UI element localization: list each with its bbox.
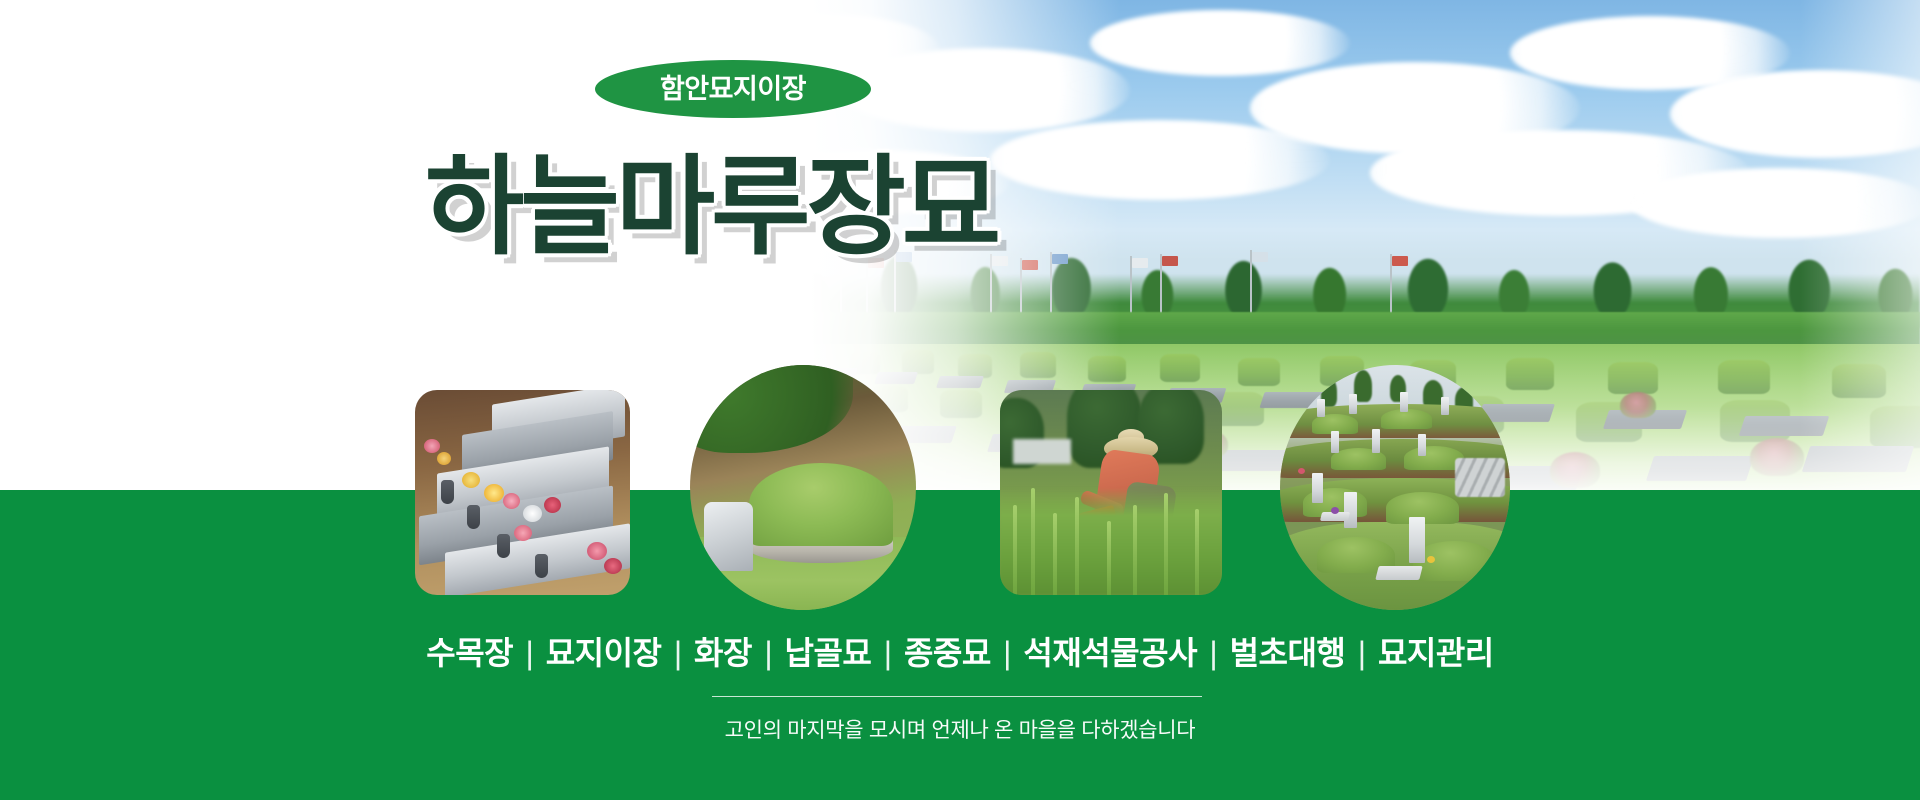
grass-blade [1164, 493, 1168, 596]
flag [1162, 256, 1178, 266]
headstone [1372, 429, 1380, 453]
headstone [1317, 399, 1325, 417]
thumbnail-image [1000, 390, 1222, 595]
thumbnail-image [415, 390, 630, 595]
region-badge: 함안묘지이장 [595, 60, 871, 118]
grass-blade [1053, 513, 1057, 595]
house [1013, 439, 1071, 464]
grass-blade [1031, 488, 1035, 595]
thumbnail-worker-mowing-grass [1000, 390, 1222, 595]
flower [544, 497, 561, 513]
headstone [1400, 392, 1408, 412]
grass-blade [1195, 509, 1199, 595]
burial-mound [749, 463, 894, 546]
thumbnail-grass-burial-mound [690, 365, 916, 610]
service-item: 화장 [694, 635, 752, 671]
headstone [1331, 431, 1339, 453]
headstone [1409, 517, 1425, 563]
burial-mound [1413, 541, 1496, 580]
flag [1252, 252, 1268, 262]
service-item: 묘지이장 [546, 635, 662, 671]
grass-blade [1013, 505, 1017, 595]
headstone [1312, 473, 1323, 503]
service-separator: | [999, 635, 1015, 671]
service-item: 석재석물공사 [1023, 635, 1197, 671]
flower-vase [467, 505, 480, 529]
headstone [1441, 397, 1449, 415]
service-separator: | [521, 635, 537, 671]
hero-banner: 함안묘지이장 하늘마루장묘 [0, 0, 1920, 800]
thumbnail-image [1280, 365, 1510, 610]
thumbnail-image [690, 365, 916, 610]
flower [424, 439, 440, 453]
service-item: 수목장 [426, 635, 513, 671]
grass-blade [1075, 497, 1079, 595]
service-separator: | [760, 635, 776, 671]
region-badge-label: 함안묘지이장 [660, 76, 806, 103]
service-item: 벌초대행 [1230, 635, 1346, 671]
grass-blade [1107, 521, 1111, 595]
flower [1331, 507, 1339, 514]
grass-blade [1133, 505, 1137, 595]
stone-wall [1455, 458, 1506, 497]
flower [437, 452, 451, 465]
cloud [1090, 10, 1350, 76]
service-separator: | [1205, 635, 1221, 671]
flag [1132, 258, 1148, 268]
flag [1392, 256, 1408, 266]
flower-vase [441, 480, 454, 504]
page-title: 하늘마루장묘 [425, 150, 997, 263]
divider-line [712, 696, 1202, 697]
service-separator: | [670, 635, 686, 671]
service-item: 납골묘 [785, 635, 872, 671]
flower [484, 484, 504, 502]
service-item: 묘지관리 [1378, 635, 1494, 671]
thumbnail-graves-with-flowers [415, 390, 630, 595]
flower [587, 542, 607, 560]
burial-mound [1381, 409, 1432, 429]
service-item: 종중묘 [904, 635, 991, 671]
headstone [1418, 434, 1426, 456]
tagline: 고인의 마지막을 모시며 언제나 온 마을을 다하겠습니다 [0, 714, 1920, 744]
services-list: 수목장 | 묘지이장 | 화장 | 납골묘 | 종중묘 | 석재석물공사 | 벌… [0, 634, 1920, 672]
flower [503, 493, 520, 509]
service-separator: | [880, 635, 896, 671]
flower-vase [497, 534, 510, 558]
headstone [1349, 394, 1357, 414]
thumbnail-hillside-cemetery [1280, 365, 1510, 610]
headstone [1344, 492, 1357, 528]
service-separator: | [1354, 635, 1370, 671]
grave-plate [1375, 566, 1422, 580]
memorial-stone [704, 502, 754, 571]
flower-vase [535, 554, 548, 578]
flower [523, 505, 542, 522]
